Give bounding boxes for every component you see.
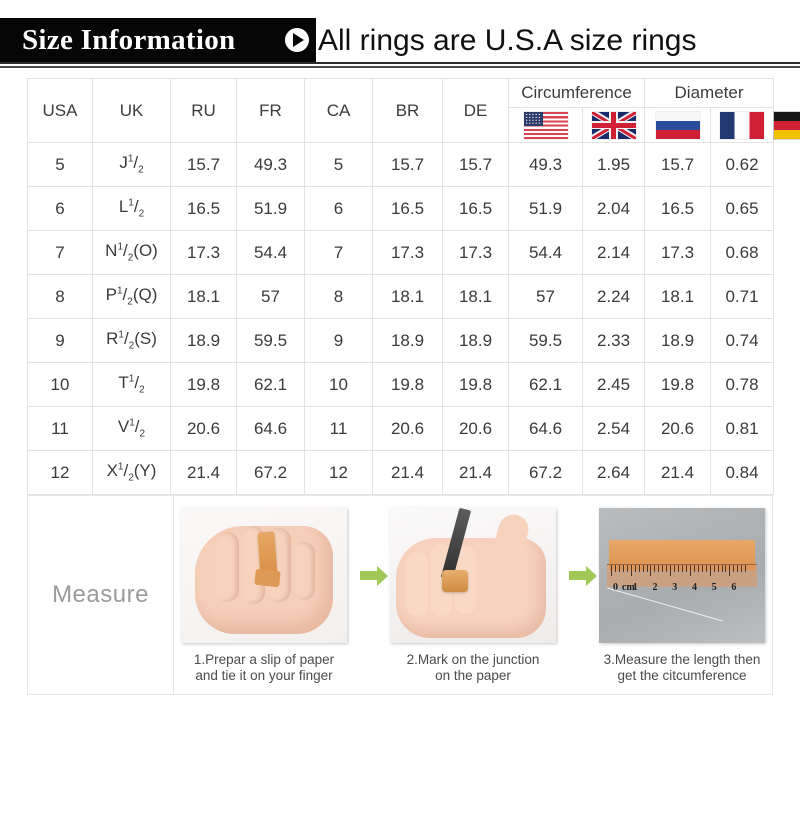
col-header-fr: FR [237, 79, 305, 143]
step-2-caption-line1: 2.Mark on the junction [407, 652, 540, 667]
cell-uk: P1/2(Q) [93, 275, 171, 319]
table-row: 11V1/220.664.61120.620.664.62.5420.60.81 [28, 407, 774, 451]
step-1-caption-line1: 1.Prepar a slip of paper [194, 652, 334, 667]
cell-circumference-mm: 59.5 [509, 319, 583, 363]
hand-with-paper-strip-photo [181, 508, 347, 643]
col-header-circumference: Circumference [509, 79, 645, 108]
cell-diameter-inch: 0.84 [711, 451, 774, 495]
step-2-caption-line2: on the paper [435, 668, 511, 683]
cell-ca: 9 [305, 319, 373, 363]
cell-ru: 15.7 [171, 143, 237, 187]
cell-fr: 67.2 [237, 451, 305, 495]
cell-fr: 59.5 [237, 319, 305, 363]
size-chart-page: Size Information All rings are U.S.A siz… [0, 18, 800, 818]
cell-br: 16.5 [373, 187, 443, 231]
cell-circumference-mm: 54.4 [509, 231, 583, 275]
cell-uk: X1/2(Y) [93, 451, 171, 495]
cell-diameter-inch: 0.74 [711, 319, 774, 363]
step-1-caption: 1.Prepar a slip of paper and tie it on y… [180, 652, 348, 684]
divider-line-top [0, 62, 800, 64]
step-3-caption: 3.Measure the length then get the citcum… [598, 652, 766, 684]
cell-br: 17.3 [373, 231, 443, 275]
cell-de: 16.5 [443, 187, 509, 231]
flag-germany-icon [774, 112, 800, 139]
ruler-tick-label: 4 [692, 582, 697, 593]
col-header-uk: UK [93, 79, 171, 143]
cell-diameter-inch: 0.65 [711, 187, 774, 231]
cell-diameter-mm: 18.1 [645, 275, 711, 319]
cell-ca: 7 [305, 231, 373, 275]
table-head: USA UK RU FR CA BR DE Circumference Diam… [28, 79, 774, 143]
green-arrow-right-icon-1 [352, 508, 386, 643]
table-row: 5J1/215.749.3515.715.749.31.9515.70.62 [28, 143, 774, 187]
flag-uk-icon [592, 112, 636, 139]
cell-fr: 54.4 [237, 231, 305, 275]
cell-usa: 6 [28, 187, 93, 231]
cell-ca: 8 [305, 275, 373, 319]
measure-table: Measure [27, 495, 773, 695]
cell-uk: J1/2 [93, 143, 171, 187]
cell-ru: 17.3 [171, 231, 237, 275]
cell-diameter-inch: 0.68 [711, 231, 774, 275]
cell-usa: 7 [28, 231, 93, 275]
ruler-tick-label: 6 [731, 582, 736, 593]
cell-br: 21.4 [373, 451, 443, 495]
cell-br: 18.1 [373, 275, 443, 319]
cell-circumference-inch: 2.45 [583, 363, 645, 407]
step-2: 2.Mark on the junction on the paper [389, 508, 557, 684]
banner-title: Size Information [22, 18, 235, 62]
cell-diameter-mm: 20.6 [645, 407, 711, 451]
table-row: 12X1/2(Y)21.467.21221.421.467.22.6421.40… [28, 451, 774, 495]
cell-uk: T1/2 [93, 363, 171, 407]
ruler-measuring-paper-photo: 0123456cm [599, 508, 765, 643]
cell-usa: 5 [28, 143, 93, 187]
cell-usa: 12 [28, 451, 93, 495]
cell-diameter-mm: 19.8 [645, 363, 711, 407]
cell-fr: 57 [237, 275, 305, 319]
cell-de: 15.7 [443, 143, 509, 187]
measure-row: Measure [28, 496, 773, 695]
cell-diameter-inch: 0.81 [711, 407, 774, 451]
cell-ca: 11 [305, 407, 373, 451]
cell-uk: R1/2(S) [93, 319, 171, 363]
cell-uk: N1/2(O) [93, 231, 171, 275]
table-row: 10T1/219.862.11019.819.862.12.4519.80.78 [28, 363, 774, 407]
cell-br: 20.6 [373, 407, 443, 451]
ring-size-table: USA UK RU FR CA BR DE Circumference Diam… [27, 78, 774, 495]
cell-diameter-mm: 21.4 [645, 451, 711, 495]
cell-ru: 16.5 [171, 187, 237, 231]
col-header-usa: USA [28, 79, 93, 143]
col-header-ru: RU [171, 79, 237, 143]
header-row-labels: USA UK RU FR CA BR DE Circumference Diam… [28, 79, 774, 108]
cell-usa: 9 [28, 319, 93, 363]
flag-usa-icon [524, 112, 568, 139]
cell-circumference-inch: 2.33 [583, 319, 645, 363]
cell-circumference-mm: 57 [509, 275, 583, 319]
header-divider [0, 62, 800, 69]
table-row: 7N1/2(O)17.354.4717.317.354.42.1417.30.6… [28, 231, 774, 275]
cell-de: 18.1 [443, 275, 509, 319]
cell-ru: 18.9 [171, 319, 237, 363]
cell-diameter-mm: 15.7 [645, 143, 711, 187]
cell-uk: V1/2 [93, 407, 171, 451]
cell-diameter-inch: 0.78 [711, 363, 774, 407]
cell-de: 17.3 [443, 231, 509, 275]
cell-diameter-inch: 0.71 [711, 275, 774, 319]
cell-usa: 8 [28, 275, 93, 319]
steps-container: 1.Prepar a slip of paper and tie it on y… [180, 508, 766, 684]
header-banner: Size Information All rings are U.S.A siz… [0, 18, 800, 62]
table-row: 8P1/2(Q)18.157818.118.1572.2418.10.71 [28, 275, 774, 319]
col-header-br: BR [373, 79, 443, 143]
ruler-tick-label: 2 [652, 582, 657, 593]
cell-ru: 21.4 [171, 451, 237, 495]
step-3-caption-line1: 3.Measure the length then [604, 652, 761, 667]
col-header-de: DE [443, 79, 509, 143]
cell-ru: 18.1 [171, 275, 237, 319]
cell-ca: 12 [305, 451, 373, 495]
step-3-caption-line2: get the citcumference [617, 668, 746, 683]
cell-de: 21.4 [443, 451, 509, 495]
green-arrow-right-icon-2 [561, 508, 595, 643]
cell-br: 19.8 [373, 363, 443, 407]
cell-ca: 6 [305, 187, 373, 231]
flag-cell-uk [583, 108, 645, 143]
cell-usa: 10 [28, 363, 93, 407]
cell-ca: 5 [305, 143, 373, 187]
col-header-ca: CA [305, 79, 373, 143]
cell-usa: 11 [28, 407, 93, 451]
cell-circumference-inch: 2.14 [583, 231, 645, 275]
table-body: 5J1/215.749.3515.715.749.31.9515.70.626L… [28, 143, 774, 495]
cell-uk: L1/2 [93, 187, 171, 231]
cell-circumference-inch: 2.04 [583, 187, 645, 231]
cell-circumference-inch: 2.64 [583, 451, 645, 495]
measure-label: Measure [28, 496, 174, 695]
step-2-caption: 2.Mark on the junction on the paper [389, 652, 557, 684]
table-row: 6L1/216.551.9616.516.551.92.0416.50.65 [28, 187, 774, 231]
cell-diameter-mm: 16.5 [645, 187, 711, 231]
divider-line-bottom [0, 66, 800, 68]
cell-de: 20.6 [443, 407, 509, 451]
flag-cell-ru [645, 108, 711, 143]
cell-de: 19.8 [443, 363, 509, 407]
cell-circumference-mm: 49.3 [509, 143, 583, 187]
cell-circumference-mm: 62.1 [509, 363, 583, 407]
cell-diameter-mm: 17.3 [645, 231, 711, 275]
measure-steps-cell: 1.Prepar a slip of paper and tie it on y… [174, 496, 773, 695]
flag-cell-fr [711, 108, 774, 143]
flag-france-icon [720, 112, 764, 139]
flag-russia-icon [656, 112, 700, 139]
cell-diameter-inch: 0.62 [711, 143, 774, 187]
table-row: 9R1/2(S)18.959.5918.918.959.52.3318.90.7… [28, 319, 774, 363]
step-3: 0123456cm 3.Measure the length then get … [598, 508, 766, 684]
cell-fr: 49.3 [237, 143, 305, 187]
flag-cell-usa [509, 108, 583, 143]
cell-fr: 64.6 [237, 407, 305, 451]
cell-circumference-mm: 64.6 [509, 407, 583, 451]
cell-circumference-mm: 67.2 [509, 451, 583, 495]
size-table-container: USA UK RU FR CA BR DE Circumference Diam… [27, 78, 773, 495]
ruler-tick-label: 3 [672, 582, 677, 593]
cell-de: 18.9 [443, 319, 509, 363]
cell-circumference-mm: 51.9 [509, 187, 583, 231]
cell-br: 15.7 [373, 143, 443, 187]
cell-fr: 51.9 [237, 187, 305, 231]
cell-circumference-inch: 2.54 [583, 407, 645, 451]
cell-ru: 19.8 [171, 363, 237, 407]
cell-diameter-mm: 18.9 [645, 319, 711, 363]
cell-circumference-inch: 2.24 [583, 275, 645, 319]
cell-br: 18.9 [373, 319, 443, 363]
cell-ru: 20.6 [171, 407, 237, 451]
play-triangle-icon [285, 28, 309, 52]
cell-circumference-inch: 1.95 [583, 143, 645, 187]
measure-section: Measure [27, 495, 773, 695]
step-1: 1.Prepar a slip of paper and tie it on y… [180, 508, 348, 684]
ruler-tick-label: 5 [712, 582, 717, 593]
header-subtitle: All rings are U.S.A size rings [318, 18, 696, 62]
cell-ca: 10 [305, 363, 373, 407]
col-header-diameter: Diameter [645, 79, 774, 108]
step-1-caption-line2: and tie it on your finger [195, 668, 332, 683]
cell-fr: 62.1 [237, 363, 305, 407]
marking-junction-on-paper-photo [390, 508, 556, 643]
